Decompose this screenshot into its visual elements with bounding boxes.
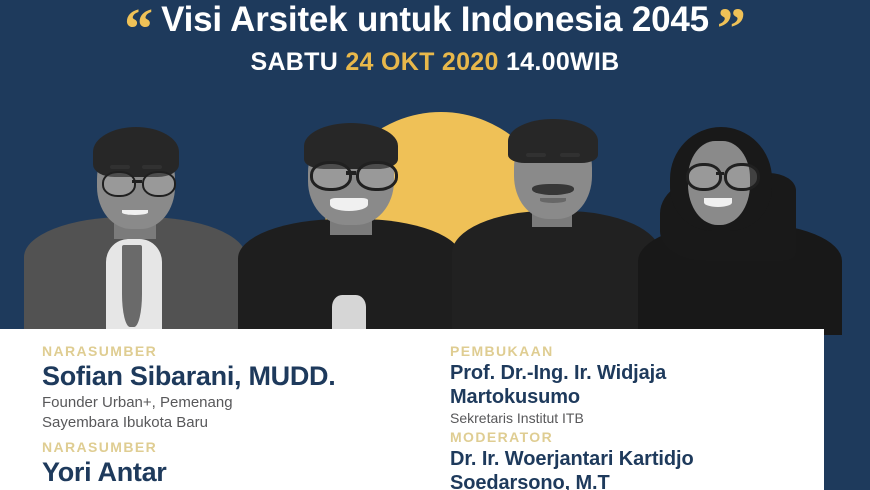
- speaker-3-hair: [508, 119, 598, 163]
- speaker-1-lens-left: [102, 171, 136, 197]
- speaker-1-glasses-bridge: [132, 180, 142, 183]
- speaker-1-tie: [122, 245, 142, 327]
- speaker-2-glasses: [308, 161, 396, 187]
- role-label-pembukaan: PEMBUKAAN: [450, 343, 666, 359]
- speaker-photo-1: [18, 90, 250, 335]
- speaker-1-lens-right: [142, 171, 176, 197]
- event-date-highlight: 24 OKT 2020: [345, 48, 498, 76]
- speaker-name-woerjantari-line2: Soedarsono, M.T: [450, 471, 694, 490]
- speaker-1-hair: [93, 127, 179, 177]
- speaker-3-torso: [452, 211, 660, 335]
- speaker-1-mouth: [122, 210, 148, 215]
- page-title: Visi Arsitek untuk Indonesia 2045: [161, 0, 709, 42]
- speaker-1-brow-right: [142, 165, 162, 169]
- speaker-4-lens-right: [724, 163, 760, 191]
- speaker-4-lens-left: [686, 163, 722, 191]
- speaker-name-widjaja-line2: Martokusumo: [450, 385, 666, 409]
- speaker-3-mustache: [532, 184, 574, 195]
- speaker-name-sofian: Sofian Sibarani, MUDD.: [42, 361, 335, 392]
- speaker-1-glasses: [98, 171, 176, 195]
- speaker-3-brow-left: [526, 153, 546, 157]
- speaker-name-woerjantari-line1: Dr. Ir. Woerjantari Kartidjo: [450, 447, 694, 471]
- speaker-2-glasses-bridge: [346, 171, 356, 175]
- role-label-moderator: MODERATOR: [450, 429, 694, 445]
- speaker-desc-sofian-line2: Sayembara Ibukota Baru: [42, 413, 335, 432]
- speaker-2-lens-right: [356, 161, 398, 191]
- speaker-block-woerjantari: MODERATOR Dr. Ir. Woerjantari Kartidjo S…: [450, 429, 694, 490]
- speaker-2-mouth: [330, 198, 368, 211]
- role-label-narasumber-2: NARASUMBER: [42, 439, 167, 455]
- speaker-name-widjaja-line1: Prof. Dr.-Ing. Ir. Widjaja: [450, 361, 666, 385]
- speaker-4-glasses: [684, 163, 758, 187]
- speaker-block-widjaja: PEMBUKAAN Prof. Dr.-Ing. Ir. Widjaja Mar…: [450, 343, 666, 427]
- event-datetime: SABTU 24 OKT 2020 14.00WIB: [0, 48, 870, 77]
- speaker-photo-4: [634, 97, 846, 335]
- speaker-block-sofian: NARASUMBER Sofian Sibarani, MUDD. Founde…: [42, 343, 335, 432]
- poster-header: “Visi Arsitek untuk Indonesia 2045” SABT…: [0, 0, 870, 95]
- speaker-photo-2: [238, 85, 462, 335]
- speaker-block-yori: NARASUMBER Yori Antar: [42, 439, 167, 488]
- speaker-1-brow-left: [110, 165, 130, 169]
- speaker-info-panel: NARASUMBER Sofian Sibarani, MUDD. Founde…: [0, 329, 824, 490]
- speaker-desc-sofian-line1: Founder Urban+, Pemenang: [42, 393, 335, 412]
- event-day-label: SABTU: [250, 48, 345, 76]
- speaker-desc-widjaja: Sekretaris Institut ITB: [450, 410, 666, 427]
- speaker-3-mouth: [540, 198, 566, 203]
- speaker-3-brow-right: [560, 153, 580, 157]
- speaker-name-yori: Yori Antar: [42, 457, 167, 488]
- role-label-narasumber-1: NARASUMBER: [42, 343, 335, 359]
- speaker-4-mouth: [704, 198, 732, 207]
- speaker-photo-3: [452, 83, 660, 335]
- webinar-poster: “Visi Arsitek untuk Indonesia 2045” SABT…: [0, 0, 870, 490]
- speaker-2-lens-left: [310, 161, 352, 191]
- speaker-4-glasses-bridge: [716, 172, 724, 175]
- event-time-label: 14.00WIB: [499, 48, 620, 76]
